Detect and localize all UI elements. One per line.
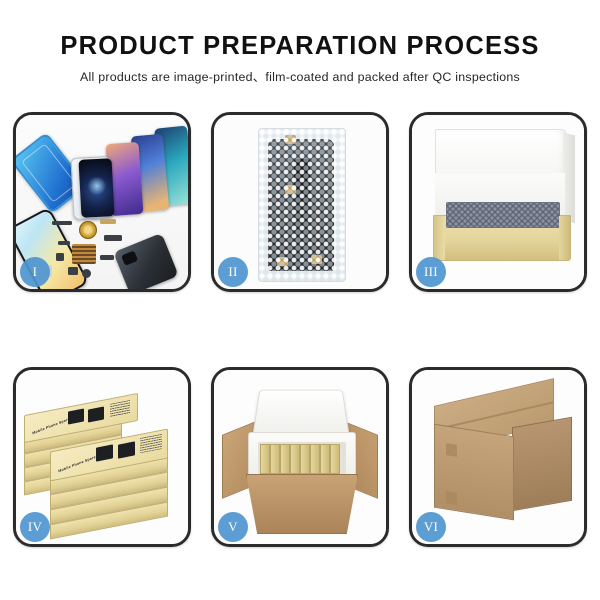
packed-kraft-box xyxy=(270,444,280,474)
page-subtitle: All products are image-printed、film-coat… xyxy=(0,60,600,83)
step-badge-2: II xyxy=(218,257,248,287)
step-badge-1: I xyxy=(20,257,50,287)
header: PRODUCT PREPARATION PROCESS All products… xyxy=(0,0,600,83)
carton-body-icon xyxy=(246,474,358,534)
packed-kraft-box xyxy=(280,444,290,474)
foam-cooler-lid-icon xyxy=(252,390,350,439)
carton-side-face-icon xyxy=(512,417,572,512)
step-badge-6: VI xyxy=(416,512,446,542)
flex-cable-part-icon xyxy=(52,221,72,225)
bubble-wrap-bag-icon xyxy=(258,128,346,282)
product-preparation-infographic: PRODUCT PREPARATION PROCESS All products… xyxy=(0,0,600,600)
process-step-panel-6: VI xyxy=(409,367,587,547)
process-step-panel-1: I xyxy=(13,112,191,292)
carton-front-face-icon xyxy=(434,424,514,521)
step-badge-5: V xyxy=(218,512,248,542)
bracket-part-icon xyxy=(100,219,116,224)
carton-tape-upper-icon xyxy=(446,443,457,457)
step-badge-3: III xyxy=(416,257,446,287)
process-step-panel-5: V xyxy=(211,367,389,547)
phone-back-housing-icon xyxy=(113,233,178,289)
sim-tray-part-icon xyxy=(58,241,70,245)
box-stack-icon: Mobile Phone Spare Parts Mobile Phone Sp… xyxy=(22,386,188,534)
kraft-box-tray-icon xyxy=(433,215,571,261)
process-step-panel-4: Mobile Phone Spare Parts Mobile Phone Sp… xyxy=(13,367,191,547)
speaker-part-icon xyxy=(68,267,78,275)
packed-kraft-box xyxy=(310,444,320,474)
process-step-panel-3: III xyxy=(409,112,587,292)
process-step-panel-2: II xyxy=(211,112,389,292)
packed-kraft-box xyxy=(320,444,330,474)
packed-kraft-box xyxy=(330,444,340,474)
camera-module-part-icon xyxy=(104,235,122,241)
button-part-icon xyxy=(56,253,64,261)
vibrator-part-icon xyxy=(82,269,91,278)
page-title: PRODUCT PREPARATION PROCESS xyxy=(0,0,600,60)
tray-left-lip-icon xyxy=(434,216,445,260)
grey-foam-padding-icon xyxy=(446,202,560,228)
packed-kraft-box xyxy=(260,444,270,474)
connector-part-icon xyxy=(100,255,114,260)
packed-kraft-box xyxy=(300,444,310,474)
foam-cooler-interior-icon xyxy=(258,442,346,474)
bubble-texture-overlay-icon xyxy=(259,129,345,281)
chip-array-part-icon xyxy=(72,244,96,264)
copper-coil-part-icon xyxy=(79,221,97,239)
tray-right-lip-icon xyxy=(559,216,570,260)
phone-screen-dark-icon xyxy=(79,158,115,218)
packed-kraft-box xyxy=(290,444,300,474)
carton-tape-lower-icon xyxy=(446,491,457,505)
process-step-grid: I II xyxy=(13,112,587,547)
step-badge-4: IV xyxy=(20,512,50,542)
